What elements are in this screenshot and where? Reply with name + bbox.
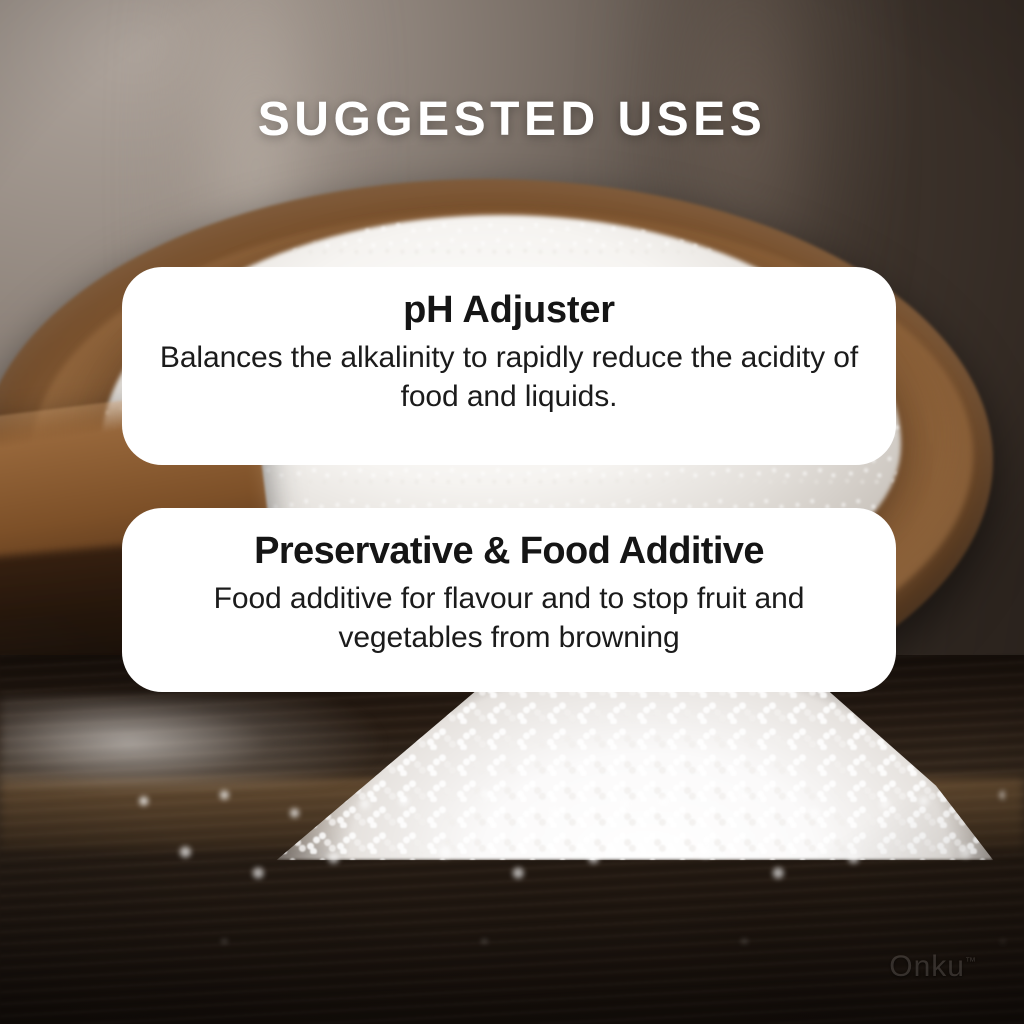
- use-card-ph-adjuster: pH Adjuster Balances the alkalinity to r…: [122, 267, 896, 465]
- page-title: SUGGESTED USES: [0, 92, 1024, 147]
- use-card-title: Preservative & Food Additive: [150, 530, 868, 573]
- brand-watermark-text: Onku: [889, 950, 965, 983]
- use-card-description: Food additive for flavour and to stop fr…: [150, 579, 868, 659]
- use-card-preservative-food-additive: Preservative & Food Additive Food additi…: [122, 508, 896, 692]
- use-card-title: pH Adjuster: [150, 289, 868, 332]
- suggested-uses-infographic: SUGGESTED USES pH Adjuster Balances the …: [0, 0, 1024, 1024]
- brand-watermark: Onku™: [889, 952, 976, 982]
- trademark-symbol: ™: [965, 956, 976, 968]
- use-card-description: Balances the alkalinity to rapidly reduc…: [150, 338, 868, 418]
